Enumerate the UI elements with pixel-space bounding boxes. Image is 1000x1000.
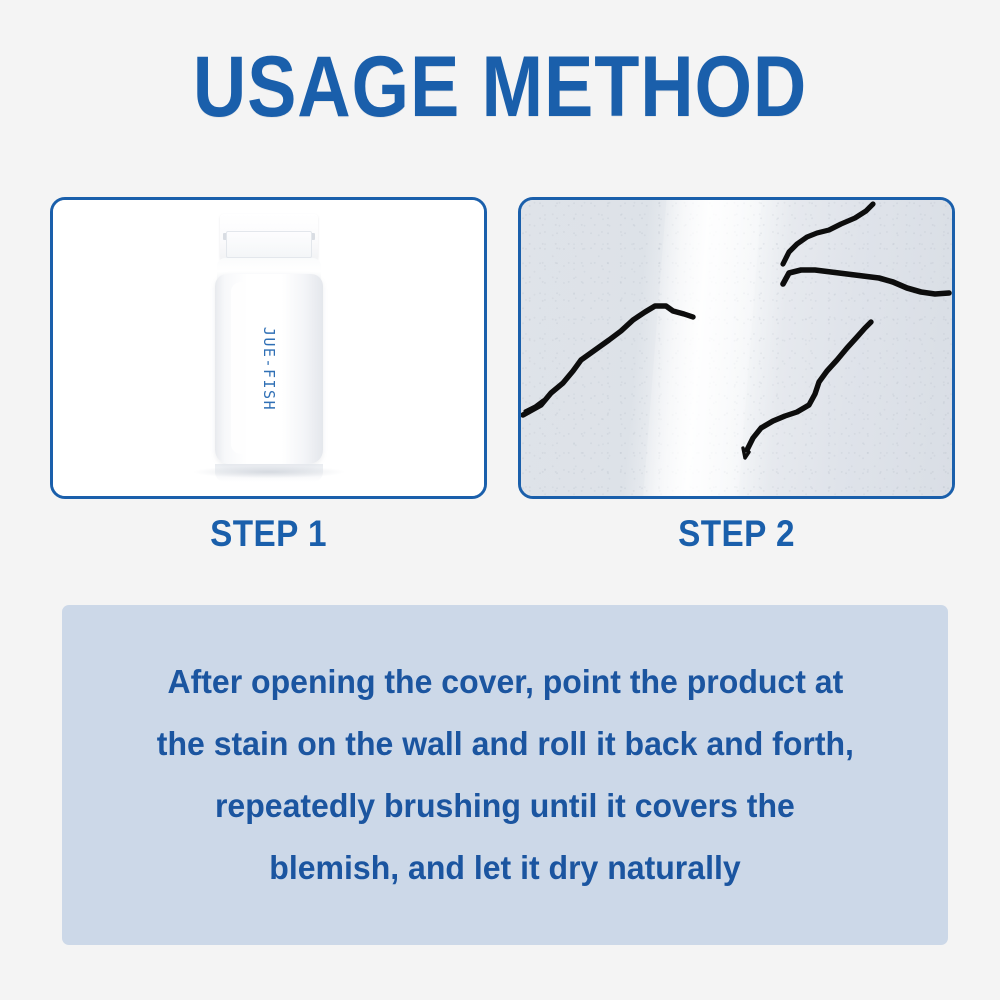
bottle-cap-open [220, 214, 318, 260]
product-photo: JUE-FISH [53, 200, 484, 496]
step-1-image-panel: JUE-FISH [50, 197, 487, 499]
step-1-label: STEP 1 [72, 512, 465, 564]
step-2-image-panel [518, 197, 955, 499]
step-2-label: STEP 2 [540, 512, 933, 564]
product-brand-text: JUE-FISH [260, 327, 278, 411]
bottle-body: JUE-FISH [215, 274, 323, 464]
instruction-line: the stain on the wall and roll it back a… [156, 713, 853, 775]
instruction-line: repeatedly brushing until it covers the [215, 775, 795, 837]
instructions-box: After opening the cover, point the produ… [62, 605, 948, 945]
step-panels: JUE-FISH [50, 197, 955, 499]
instruction-line: blemish, and let it dry naturally [269, 837, 740, 899]
cap-inner-panel [226, 231, 312, 258]
bottle-drop-shadow [194, 466, 344, 478]
bottle-highlight [231, 282, 253, 454]
wall-cracks [521, 200, 952, 496]
step-labels: STEP 1 STEP 2 [50, 512, 955, 564]
page-title: USAGE METHOD [70, 44, 930, 130]
cracked-wall-photo [521, 200, 952, 496]
instruction-line: After opening the cover, point the produ… [167, 651, 843, 713]
product-bottle: JUE-FISH [189, 214, 349, 484]
